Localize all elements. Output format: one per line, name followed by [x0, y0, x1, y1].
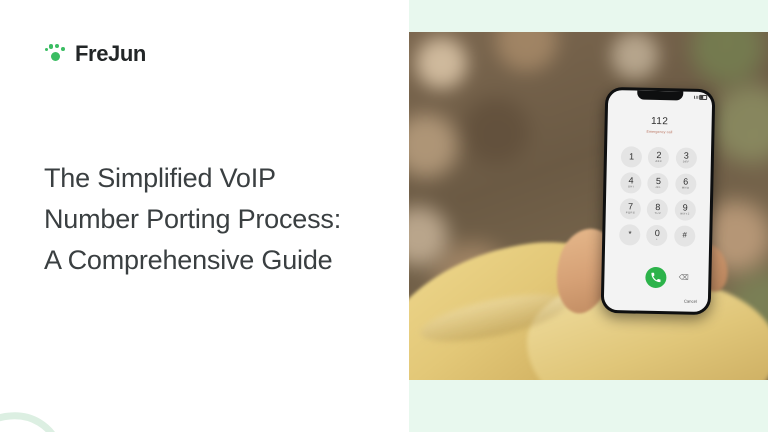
dialpad-key-2[interactable]: 2 ABC [648, 147, 669, 168]
status-indicators [694, 95, 708, 100]
signal-icon [694, 96, 698, 99]
page-title: The Simplified VoIP Number Porting Proce… [44, 158, 384, 281]
key-letters: DEF [683, 162, 690, 165]
key-letters: GHI [628, 187, 634, 190]
dialed-number: 112 [608, 116, 712, 128]
key-letters: + [656, 239, 658, 242]
brand-wordmark: FreJun [75, 43, 146, 65]
key-letters: TUV [654, 213, 661, 216]
dialpad-key-8[interactable]: 8 TUV [647, 199, 668, 220]
brand-logo[interactable]: FreJun [44, 40, 146, 68]
key-letters: WXYZ [680, 214, 690, 217]
smartphone: 112 Emergency call 1 2 ABC 3 DEF [601, 87, 716, 315]
key-digit: 6 [683, 178, 688, 187]
phone-handset-icon [651, 272, 662, 283]
battery-icon [699, 95, 707, 100]
key-digit: 3 [684, 152, 689, 161]
dialpad-key-5[interactable]: 5 JKL [648, 173, 669, 194]
key-letters: MNO [682, 188, 690, 191]
emergency-call-label: Emergency call [607, 129, 711, 135]
paw-dots-icon [44, 43, 68, 65]
key-digit: 7 [628, 203, 633, 212]
call-action-row: ⌫ [604, 266, 708, 289]
dialpad-key-9[interactable]: 9 WXYZ [674, 199, 695, 220]
headline-line-3: A Comprehensive Guide [44, 240, 384, 281]
key-letters: PQRS [626, 213, 635, 216]
key-letters: JKL [655, 187, 661, 190]
dialpad-key-hash[interactable]: # [674, 225, 695, 246]
dialpad-key-3[interactable]: 3 DEF [676, 147, 697, 168]
dialpad-key-6[interactable]: 6 MNO [675, 173, 696, 194]
phone-notch [637, 91, 683, 101]
decorative-paw-outline [0, 330, 194, 432]
hero-photo: 112 Emergency call 1 2 ABC 3 DEF [409, 32, 768, 380]
key-digit: 1 [629, 152, 634, 161]
key-digit: * [628, 230, 631, 238]
key-digit: # [682, 232, 687, 240]
dialpad-key-7[interactable]: 7 PQRS [620, 198, 641, 219]
key-digit: 2 [656, 151, 661, 160]
backspace-button[interactable]: ⌫ [679, 274, 689, 281]
call-button[interactable] [646, 267, 667, 288]
key-digit: 8 [655, 203, 660, 212]
dialpad-key-1[interactable]: 1 [621, 146, 642, 167]
dialpad-key-0[interactable]: 0 + [647, 225, 668, 246]
headline-line-2: Number Porting Process: [44, 199, 384, 240]
key-digit: 9 [683, 204, 688, 213]
key-digit: 5 [656, 177, 661, 186]
phone-screen: 112 Emergency call 1 2 ABC 3 DEF [604, 90, 713, 312]
headline-line-1: The Simplified VoIP [44, 158, 384, 199]
dialpad-key-star[interactable]: * [619, 224, 640, 245]
key-digit: 4 [628, 177, 633, 186]
dialpad-key-4[interactable]: 4 GHI [620, 172, 641, 193]
cancel-button[interactable]: Cancel [684, 299, 697, 304]
dialpad[interactable]: 1 2 ABC 3 DEF 4 GHI [605, 146, 711, 247]
key-digit: 0 [655, 229, 660, 238]
hero-banner: FreJun The Simplified VoIP Number Portin… [0, 0, 768, 432]
key-letters: ABC [655, 161, 662, 164]
